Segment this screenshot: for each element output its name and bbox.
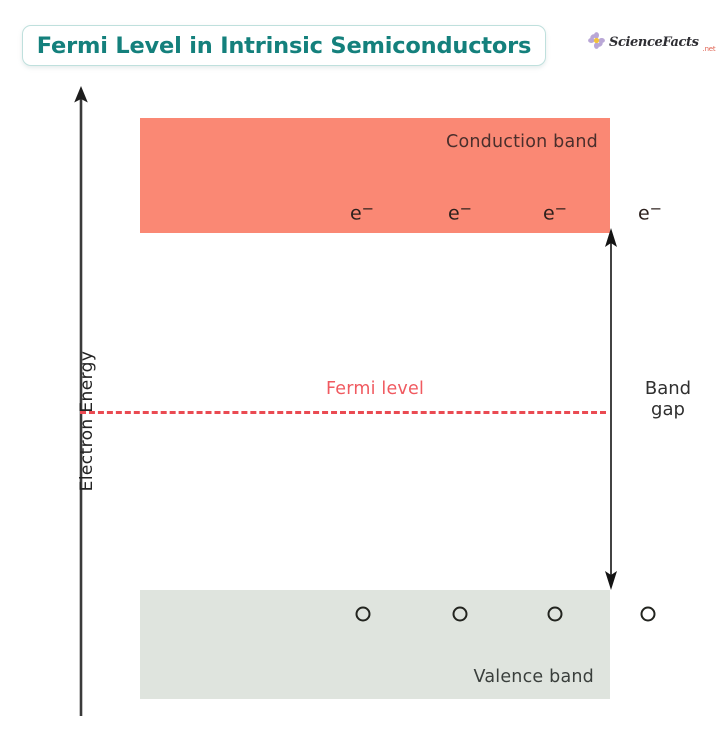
hole-circle-icon bbox=[548, 607, 563, 622]
band-gap-arrow bbox=[600, 228, 622, 590]
y-axis-label: Electron Energy bbox=[77, 291, 97, 551]
logo-wordmark: ScienceFacts bbox=[609, 36, 699, 49]
valence-band: Valence band bbox=[140, 590, 610, 699]
electron-symbol: e− bbox=[350, 202, 374, 223]
hole-circle-icon bbox=[453, 607, 468, 622]
hole-circle-icon bbox=[356, 607, 371, 622]
electron-energy-axis: Electron Energy bbox=[70, 86, 92, 716]
electron-symbol: e− bbox=[448, 202, 472, 223]
fermi-level-label: Fermi level bbox=[280, 379, 470, 399]
electron-symbol: e− bbox=[543, 202, 567, 223]
site-logo: ScienceFacts .net bbox=[588, 29, 715, 55]
electron-charge: − bbox=[555, 200, 567, 217]
conduction-band: Conduction band e− e− e− e− bbox=[140, 118, 610, 233]
band-gap-label: Band gap bbox=[626, 379, 710, 421]
electron-charge: − bbox=[650, 200, 662, 217]
page-title: Fermi Level in Intrinsic Semiconductors bbox=[37, 33, 531, 59]
fermi-level-line bbox=[80, 411, 606, 414]
band-gap-label-line1: Band bbox=[626, 379, 710, 400]
valence-band-label: Valence band bbox=[474, 667, 594, 687]
electron-charge: − bbox=[362, 200, 374, 217]
page-title-box: Fermi Level in Intrinsic Semiconductors bbox=[22, 25, 546, 66]
electron-symbol: e− bbox=[638, 202, 662, 223]
electron-charge: − bbox=[460, 200, 472, 217]
hole-circle-icon bbox=[641, 607, 656, 622]
logo-tld: .net bbox=[703, 46, 716, 55]
band-gap-label-line2: gap bbox=[626, 400, 710, 421]
conduction-band-label: Conduction band bbox=[446, 132, 598, 152]
flower-atom-icon bbox=[588, 32, 605, 53]
